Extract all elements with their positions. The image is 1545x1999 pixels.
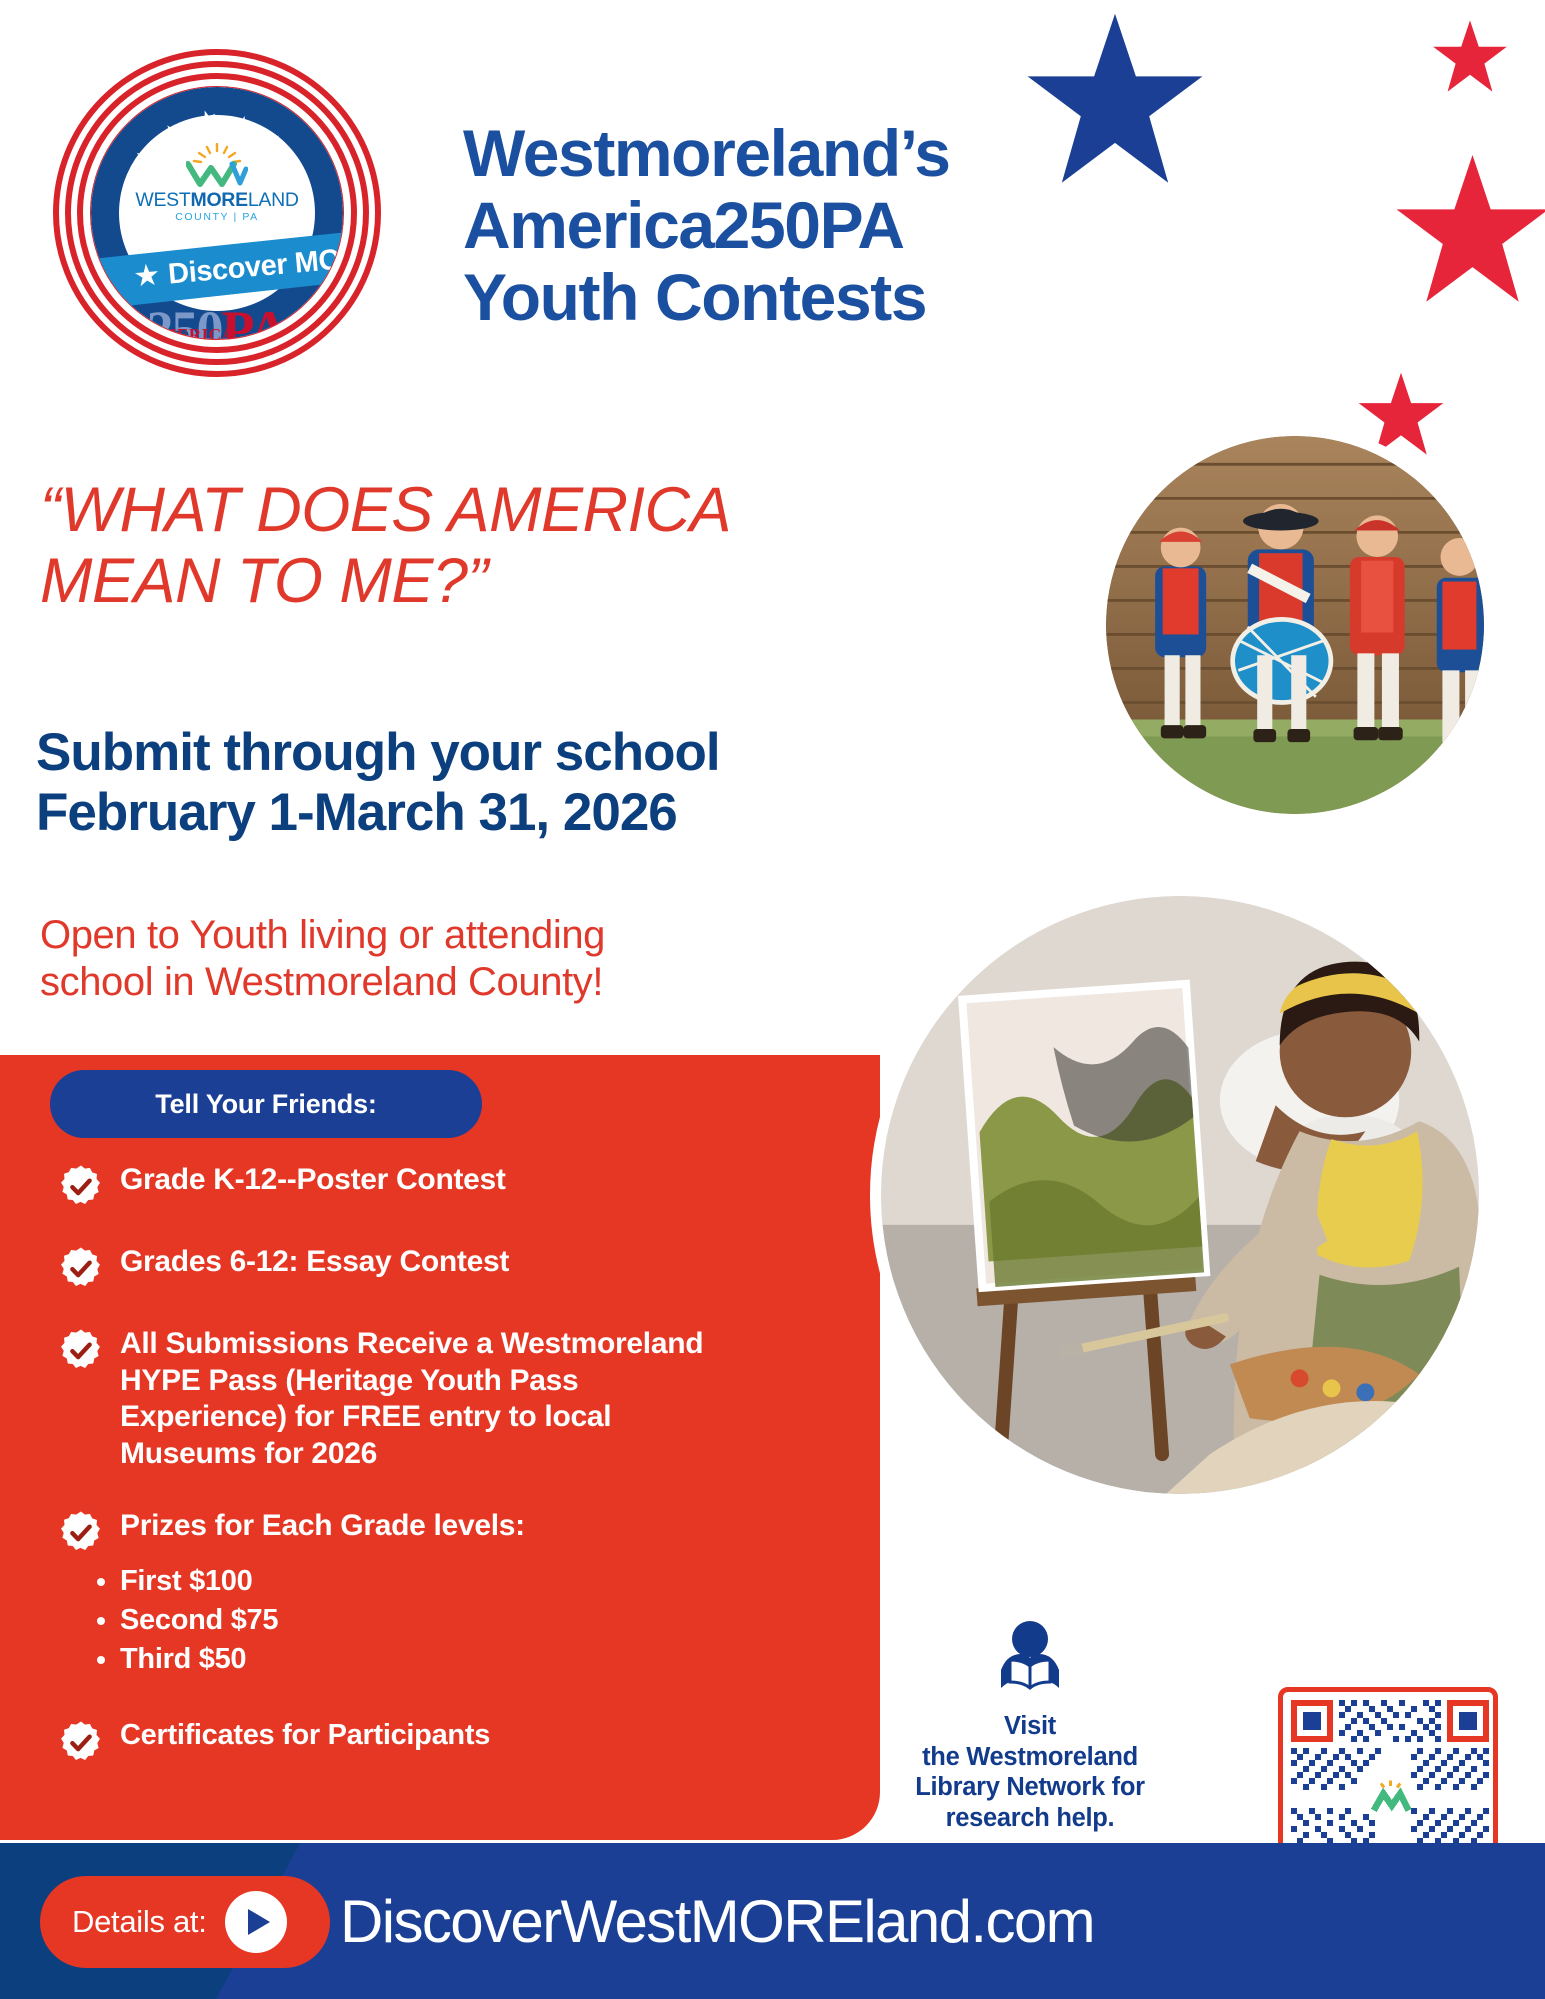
prize-item: Third $50 xyxy=(120,1640,858,1679)
details-at-label: Details at: xyxy=(72,1904,207,1940)
list-item: Grade K-12--Poster Contest xyxy=(58,1162,858,1210)
submission-window: Submit through your school February 1-Ma… xyxy=(36,723,936,844)
library-line-4: research help. xyxy=(880,1803,1180,1834)
eligibility-note: Open to Youth living or attending school… xyxy=(40,912,800,1006)
prizes-heading-row: Prizes for Each Grade levels: xyxy=(58,1508,858,1556)
play-triangle-icon xyxy=(225,1891,287,1953)
library-line-2: the Westmoreland xyxy=(880,1742,1180,1773)
flyer-canvas: WESTMORELAND COUNTY | PA ★ Discover MORE… xyxy=(0,0,1545,1999)
ribbon-star-icon: ★ xyxy=(132,260,161,292)
list-item: All Submissions Receive a Westmoreland H… xyxy=(58,1326,858,1472)
artist-illustration xyxy=(881,896,1479,1494)
prize-item: First $100 xyxy=(120,1562,858,1601)
check-seal-icon xyxy=(58,1328,104,1374)
quote-line-1: “WHAT DOES AMERICA xyxy=(40,475,920,546)
list-item: Certificates for Participants xyxy=(58,1718,858,1766)
america250-america-word: AMERICA xyxy=(148,325,235,339)
submit-line-2: February 1-March 31, 2026 xyxy=(36,783,936,843)
young-artist-painting-photo xyxy=(870,885,1490,1505)
library-line-1: Visit xyxy=(880,1711,1180,1742)
list-item-label: Prizes for Each Grade levels: xyxy=(120,1508,525,1545)
logo-seal-core: WESTMORELAND COUNTY | PA ★ Discover MORE… xyxy=(91,87,343,339)
logo-county-name: WESTMORELAND xyxy=(91,189,343,212)
headline-line-2: America250PA xyxy=(463,190,1153,262)
headline-line-1: Westmoreland’s xyxy=(463,118,1153,190)
eligibility-line-1: Open to Youth living or attending xyxy=(40,912,800,959)
contest-theme-quote: “WHAT DOES AMERICA MEAN TO ME?” xyxy=(40,475,920,616)
decorative-star-red-large xyxy=(1390,150,1545,315)
list-item-label: Grade K-12--Poster Contest xyxy=(120,1162,506,1199)
check-seal-icon xyxy=(58,1246,104,1292)
library-callout-text: Visit the Westmoreland Library Network f… xyxy=(880,1711,1180,1833)
quote-line-2: MEAN TO ME?” xyxy=(40,546,920,617)
tell-your-friends-badge: Tell Your Friends: xyxy=(50,1070,482,1138)
person-reading-book-icon xyxy=(987,1620,1073,1702)
revolutionary-war-reenactors-photo xyxy=(1095,425,1495,825)
check-seal-icon xyxy=(58,1510,104,1556)
check-seal-icon xyxy=(58,1720,104,1766)
details-at-button[interactable]: Details at: xyxy=(40,1876,330,1968)
check-seal-icon xyxy=(58,1164,104,1210)
submit-line-1: Submit through your school xyxy=(36,723,936,783)
page-title: Westmoreland’s America250PA Youth Contes… xyxy=(463,118,1153,334)
logo-county-sub: COUNTY | PA xyxy=(91,211,343,223)
list-item-label: Grades 6-12: Essay Contest xyxy=(120,1244,509,1281)
reenactors-illustration xyxy=(1106,436,1484,814)
contest-bullet-list: Grade K-12--Poster Contest Grades 6-12: … xyxy=(58,1162,858,1792)
green-w-mark-icon xyxy=(186,161,248,187)
prize-item: Second $75 xyxy=(120,1601,858,1640)
prize-sublist: First $100 Second $75 Third $50 xyxy=(58,1562,858,1678)
website-url[interactable]: DiscoverWestMOREland.com xyxy=(340,1876,1094,1968)
decorative-star-red-small-top xyxy=(1430,18,1510,98)
library-callout: Visit the Westmoreland Library Network f… xyxy=(880,1620,1180,1833)
library-line-3: Library Network for xyxy=(880,1772,1180,1803)
tell-your-friends-label: Tell Your Friends: xyxy=(155,1089,376,1120)
headline-line-3: Youth Contests xyxy=(463,262,1153,334)
westmoreland-america250pa-logo: WESTMORELAND COUNTY | PA ★ Discover MORE… xyxy=(52,48,382,378)
list-item: Grades 6-12: Essay Contest xyxy=(58,1244,858,1292)
list-item-label: All Submissions Receive a Westmoreland H… xyxy=(120,1326,740,1472)
list-item: Prizes for Each Grade levels: First $100… xyxy=(58,1508,858,1678)
eligibility-line-2: school in Westmoreland County! xyxy=(40,959,800,1006)
list-item-label: Certificates for Participants xyxy=(120,1718,490,1753)
